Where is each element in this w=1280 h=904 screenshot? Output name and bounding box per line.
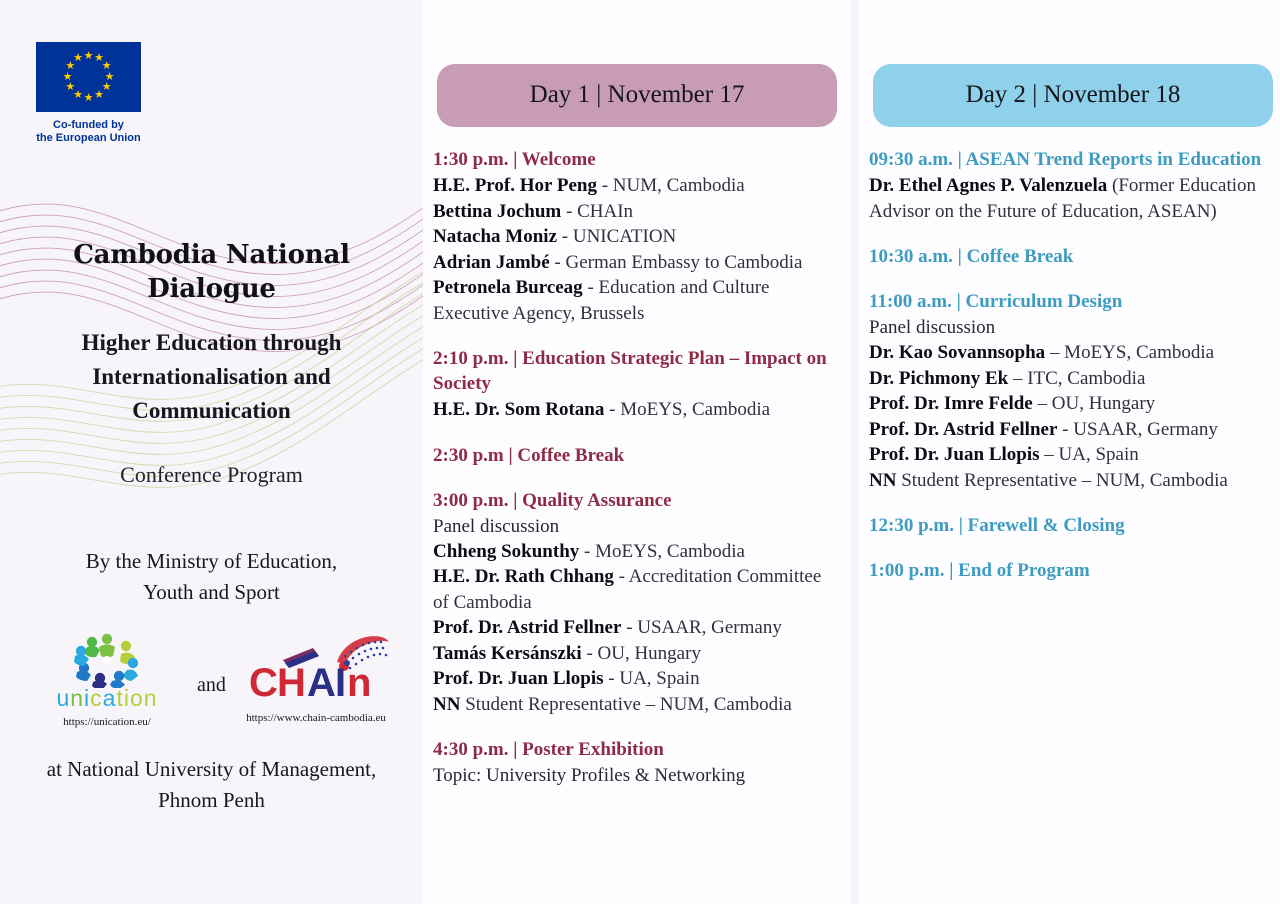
speaker-affiliation: - MoEYS, Cambodia	[579, 541, 745, 562]
conference-subtitle-line-1: Higher Education through	[26, 326, 397, 360]
session-heading: 2:10 p.m. | Education Strategic Plan – I…	[433, 346, 835, 396]
conference-program-page: ★★★★★★★★★★★★ Co-funded by the European U…	[0, 0, 1280, 904]
speaker-line: H.E. Dr. Som Rotana - MoEYS, Cambodia	[433, 397, 835, 423]
conference-title-line-1: Cambodia National	[26, 238, 397, 272]
session-heading: 2:30 p.m | Coffee Break	[433, 443, 835, 468]
speaker-name: Dr. Pichmony Ek	[869, 368, 1008, 389]
eu-flag-icon: ★★★★★★★★★★★★	[36, 42, 141, 112]
speaker-affiliation: – ITC, Cambodia	[1008, 368, 1145, 389]
session-heading: 3:00 p.m. | Quality Assurance	[433, 488, 835, 513]
svg-text:I: I	[335, 661, 346, 705]
speaker-affiliation: Student Representative – NUM, Cambodia	[460, 694, 791, 715]
session-heading: 1:00 p.m. | End of Program	[869, 558, 1271, 583]
speaker-affiliation: - UNICATION	[557, 226, 676, 247]
session-block: 2:10 p.m. | Education Strategic Plan – I…	[433, 346, 835, 423]
session-heading: 11:00 a.m. | Curriculum Design	[869, 289, 1271, 314]
day-2-header: Day 2 | November 18	[873, 64, 1273, 127]
chain-url[interactable]: https://www.chain-cambodia.eu	[246, 712, 386, 724]
speaker-name: NN	[869, 470, 896, 491]
speaker-affiliation: - USAAR, Germany	[621, 617, 781, 638]
speaker-line: NN Student Representative – NUM, Cambodi…	[869, 468, 1271, 494]
speaker-line: Petronela Burceag - Education and Cultur…	[433, 275, 835, 326]
session-block: 11:00 a.m. | Curriculum DesignPanel disc…	[869, 289, 1271, 493]
speaker-name: Chheng Sokunthy	[433, 541, 579, 562]
eu-cofunding-badge: ★★★★★★★★★★★★ Co-funded by the European U…	[32, 42, 202, 145]
speaker-name: Prof. Dr. Imre Felde	[869, 393, 1033, 414]
session-block: 3:00 p.m. | Quality AssurancePanel discu…	[433, 488, 835, 718]
speaker-name: Dr. Kao Sovannsopha	[869, 342, 1045, 363]
session-block: 12:30 p.m. | Farewell & Closing	[869, 513, 1271, 538]
organiser-text: By the Ministry of Education, Youth and …	[26, 546, 397, 608]
speaker-line: Natacha Moniz - UNICATION	[433, 224, 835, 250]
eu-star-icon: ★	[94, 90, 105, 101]
session-note: Panel discussion	[869, 315, 1271, 340]
speaker-line: Prof. Dr. Astrid Fellner - USAAR, German…	[433, 615, 835, 641]
speaker-name: NN	[433, 694, 460, 715]
eu-badge-caption: Co-funded by the European Union	[32, 119, 145, 145]
session-heading: 10:30 a.m. | Coffee Break	[869, 244, 1271, 269]
eu-caption-line-2: the European Union	[32, 132, 145, 145]
day-2-column: Day 2 | November 18 09:30 a.m. | ASEAN T…	[859, 0, 1280, 904]
speaker-line: Prof. Dr. Imre Felde – OU, Hungary	[869, 391, 1271, 417]
unication-wordmark: unication	[56, 686, 157, 710]
venue-line-2: Phnom Penh	[26, 785, 397, 816]
speaker-affiliation: - MoEYS, Cambodia	[604, 399, 770, 420]
speaker-name: H.E. Dr. Rath Chhang	[433, 566, 614, 587]
eu-star-icon: ★	[65, 82, 76, 93]
speaker-affiliation: - OU, Hungary	[582, 643, 701, 664]
session-note: Topic: University Profiles & Networking	[433, 763, 835, 788]
speaker-line: Adrian Jambé - German Embassy to Cambodi…	[433, 250, 835, 276]
day-1-header: Day 1 | November 17	[437, 64, 837, 127]
speaker-line: Prof. Dr. Astrid Fellner - USAAR, German…	[869, 417, 1271, 443]
speaker-name: Dr. Ethel Agnes P. Valenzuela	[869, 175, 1107, 196]
day-1-session-list: 1:30 p.m. | WelcomeH.E. Prof. Hor Peng -…	[423, 127, 851, 788]
speaker-line: H.E. Prof. Hor Peng - NUM, Cambodia	[433, 173, 835, 199]
speaker-name: Prof. Dr. Juan Llopis	[433, 668, 604, 689]
day-2-session-list: 09:30 a.m. | ASEAN Trend Reports in Educ…	[859, 127, 1280, 583]
column-gap	[851, 0, 859, 904]
session-block: 09:30 a.m. | ASEAN Trend Reports in Educ…	[869, 147, 1271, 224]
conference-subtitle-line-2: Internationalisation and	[26, 360, 397, 394]
program-label: Conference Program	[26, 460, 397, 490]
speaker-line: Prof. Dr. Juan Llopis - UA, Spain	[433, 666, 835, 692]
page-title: Cambodia National Dialogue	[26, 238, 397, 306]
speaker-line: Dr. Ethel Agnes P. Valenzuela (Former Ed…	[869, 173, 1271, 224]
session-heading: 12:30 p.m. | Farewell & Closing	[869, 513, 1271, 538]
speaker-name: Natacha Moniz	[433, 226, 557, 247]
speaker-name: H.E. Dr. Som Rotana	[433, 399, 604, 420]
speaker-name: Adrian Jambé	[433, 252, 550, 273]
speaker-name: Prof. Dr. Juan Llopis	[869, 444, 1040, 465]
speaker-line: Prof. Dr. Juan Llopis – UA, Spain	[869, 442, 1271, 468]
speaker-affiliation: – UA, Spain	[1040, 444, 1139, 465]
session-heading: 1:30 p.m. | Welcome	[433, 147, 835, 172]
speaker-name: Prof. Dr. Astrid Fellner	[433, 617, 621, 638]
svg-text:C: C	[249, 661, 278, 705]
session-block: 2:30 p.m | Coffee Break	[433, 443, 835, 468]
speaker-affiliation: – MoEYS, Cambodia	[1045, 342, 1214, 363]
eu-star-icon: ★	[62, 72, 73, 83]
partner-logos: unication https://unication.eu/ and	[26, 630, 397, 728]
eu-star-icon: ★	[83, 93, 94, 104]
logo-conjunction: and	[191, 630, 233, 697]
chain-logo-cell: C H A I n https://www.chain-cambodia.eu	[239, 630, 394, 724]
unication-url[interactable]: https://unication.eu/	[63, 716, 151, 728]
unication-logo-cell: unication https://unication.eu/	[30, 630, 185, 728]
left-title-panel: ★★★★★★★★★★★★ Co-funded by the European U…	[0, 0, 423, 904]
speaker-line: NN Student Representative – NUM, Cambodi…	[433, 692, 835, 718]
session-block: 10:30 a.m. | Coffee Break	[869, 244, 1271, 269]
session-block: 1:30 p.m. | WelcomeH.E. Prof. Hor Peng -…	[433, 147, 835, 326]
speaker-affiliation: - German Embassy to Cambodia	[550, 252, 803, 273]
speaker-line: H.E. Dr. Rath Chhang - Accreditation Com…	[433, 564, 835, 615]
venue-line-1: at National University of Management,	[26, 754, 397, 785]
speaker-affiliation: - UA, Spain	[604, 668, 700, 689]
speaker-line: Bettina Jochum - CHAIn	[433, 199, 835, 225]
organiser-line-2: Youth and Sport	[26, 577, 397, 608]
eu-star-icon: ★	[83, 51, 94, 62]
venue-text: at National University of Management, Ph…	[26, 754, 397, 816]
eu-star-icon: ★	[73, 53, 84, 64]
speaker-affiliation: Student Representative – NUM, Cambodia	[896, 470, 1227, 491]
speaker-affiliation: – OU, Hungary	[1033, 393, 1155, 414]
svg-text:H: H	[277, 661, 306, 705]
speaker-name: Tamás Kersánszki	[433, 643, 582, 664]
speaker-affiliation: - NUM, Cambodia	[597, 175, 745, 196]
session-heading: 09:30 a.m. | ASEAN Trend Reports in Educ…	[869, 147, 1271, 172]
speaker-line: Dr. Pichmony Ek – ITC, Cambodia	[869, 366, 1271, 392]
session-note: Panel discussion	[433, 514, 835, 539]
session-block: 4:30 p.m. | Poster ExhibitionTopic: Univ…	[433, 737, 835, 788]
session-heading: 4:30 p.m. | Poster Exhibition	[433, 737, 835, 762]
speaker-name: H.E. Prof. Hor Peng	[433, 175, 597, 196]
conference-subtitle: Higher Education through Internationalis…	[26, 326, 397, 428]
day-1-column: Day 1 | November 17 1:30 p.m. | WelcomeH…	[423, 0, 851, 904]
speaker-line: Tamás Kersánszki - OU, Hungary	[433, 641, 835, 667]
speaker-name: Petronela Burceag	[433, 277, 583, 298]
svg-text:n: n	[347, 661, 371, 705]
speaker-line: Chheng Sokunthy - MoEYS, Cambodia	[433, 539, 835, 565]
session-block: 1:00 p.m. | End of Program	[869, 558, 1271, 583]
svg-text:A: A	[307, 661, 336, 705]
speaker-name: Bettina Jochum	[433, 201, 561, 222]
eu-caption-line-1: Co-funded by	[32, 119, 145, 132]
chain-logo-icon: C H A I n	[241, 630, 391, 706]
speaker-line: Dr. Kao Sovannsopha – MoEYS, Cambodia	[869, 340, 1271, 366]
speaker-affiliation: - CHAIn	[561, 201, 633, 222]
unication-people-icon	[59, 630, 155, 688]
conference-subtitle-line-3: Communication	[26, 394, 397, 428]
organiser-line-1: By the Ministry of Education,	[26, 546, 397, 577]
speaker-name: Prof. Dr. Astrid Fellner	[869, 419, 1057, 440]
conference-title-line-2: Dialogue	[26, 272, 397, 306]
speaker-affiliation: - USAAR, Germany	[1057, 419, 1217, 440]
